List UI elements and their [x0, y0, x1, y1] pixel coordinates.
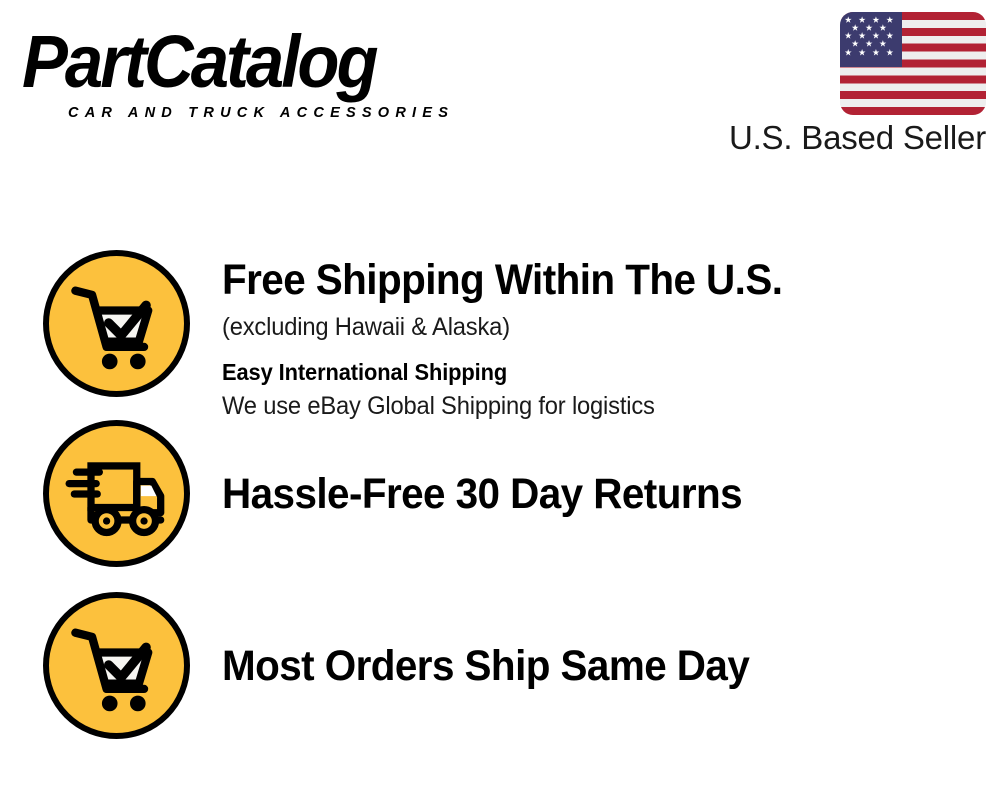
feature-text-block: Free Shipping Within The U.S. (excluding… [222, 250, 1000, 423]
us-based-seller-badge: U.S. Based Seller [716, 12, 986, 162]
brand-wordmark: PartCatalog [22, 22, 376, 102]
flag-canton [840, 12, 902, 67]
feature-sub-heading: Easy International Shipping [222, 357, 961, 388]
feature-text-block: Most Orders Ship Same Day [222, 592, 1000, 692]
shopping-cart-check-icon [43, 250, 190, 397]
feature-subtitle: (excluding Hawaii & Alaska) [222, 310, 961, 344]
us-based-seller-label: U.S. Based Seller [729, 116, 986, 160]
feature-title: Hassle-Free 30 Day Returns [222, 468, 953, 520]
feature-title: Most Orders Ship Same Day [222, 640, 953, 692]
feature-text-block: Hassle-Free 30 Day Returns [222, 420, 1000, 520]
shipping-info-banner: { "brand": { "wordmark": "PartCatalog", … [0, 0, 1000, 800]
feature-row: Free Shipping Within The U.S. (excluding… [0, 250, 1000, 423]
feature-list: Free Shipping Within The U.S. (excluding… [0, 176, 1000, 800]
brand-tagline: CAR AND TRUCK ACCESSORIES [68, 104, 454, 121]
delivery-truck-icon [43, 420, 190, 567]
feature-sub-detail: We use eBay Global Shipping for logistic… [222, 389, 961, 423]
feature-row: Most Orders Ship Same Day [0, 592, 1000, 739]
us-flag-icon [840, 12, 986, 115]
shopping-cart-check-icon [43, 592, 190, 739]
brand-logo[interactable]: PartCatalog CAR AND TRUCK ACCESSORIES [22, 22, 522, 122]
feature-title: Free Shipping Within The U.S. [222, 254, 953, 306]
feature-row: Hassle-Free 30 Day Returns [0, 420, 1000, 567]
banner-header: PartCatalog CAR AND TRUCK ACCESSORIES [0, 0, 1000, 175]
